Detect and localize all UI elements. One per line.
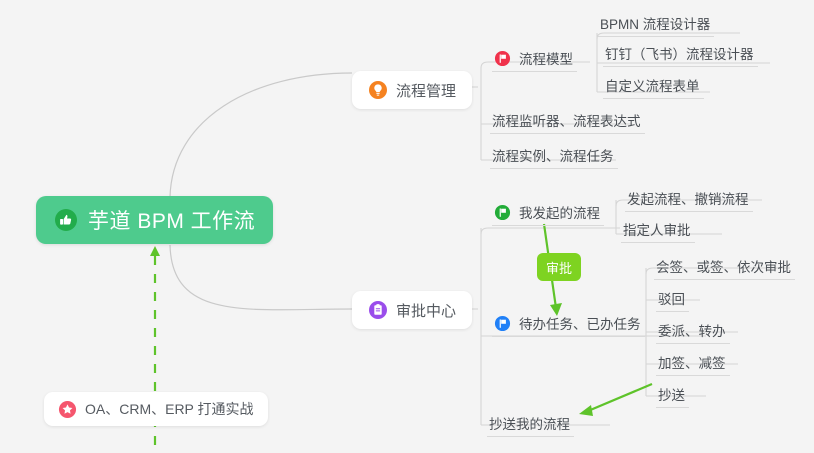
node-underline — [654, 279, 795, 280]
node-underline — [603, 98, 704, 99]
node-label-process-listener: 流程监听器、流程表达式 — [492, 110, 641, 130]
node-label-dingtalk-designer: 钉钉（飞书）流程设计器 — [605, 43, 754, 63]
floating-note-label: OA、CRM、ERP 打通实战 — [85, 399, 254, 419]
node-label-my-initiated-processes: 我发起的流程 — [519, 202, 600, 222]
node-underline — [603, 66, 758, 67]
node-underline — [656, 343, 730, 344]
node-process-listener[interactable]: 流程监听器、流程表达式 — [490, 107, 645, 133]
node-underline — [656, 375, 730, 376]
node-countersign[interactable]: 会签、或签、依次审批 — [654, 253, 795, 279]
node-process-instance[interactable]: 流程实例、流程任务 — [490, 142, 618, 168]
annotation-arrow-cc — [579, 384, 652, 416]
node-label-process-model: 流程模型 — [519, 48, 573, 68]
node-bpmn-designer[interactable]: BPMN 流程设计器 — [598, 10, 714, 36]
node-underline — [598, 36, 714, 37]
node-dingtalk-designer[interactable]: 钉钉（飞书）流程设计器 — [603, 40, 758, 66]
thumbs-up-icon — [54, 208, 78, 232]
node-cc[interactable]: 抄送 — [656, 381, 689, 407]
node-label-start-cancel-process: 发起流程、撤销流程 — [627, 188, 749, 208]
node-label-reject: 驳回 — [658, 288, 685, 308]
link-ac-child-1 — [481, 228, 620, 234]
node-process-model[interactable]: 流程模型 — [492, 45, 577, 71]
branch-label-process-management: 流程管理 — [396, 80, 456, 101]
node-label-assignee-approval: 指定人审批 — [623, 219, 691, 239]
node-label-bpmn-designer: BPMN 流程设计器 — [600, 13, 710, 33]
link-root-to-approval-center — [170, 245, 352, 310]
node-underline — [487, 436, 574, 437]
node-delegate-transfer[interactable]: 委派、转办 — [656, 317, 730, 343]
root-node[interactable]: 芋道 BPM 工作流 — [36, 196, 273, 244]
node-underline — [492, 336, 645, 337]
node-label-cc-to-me-processes: 抄送我的流程 — [489, 413, 570, 433]
node-label-cc: 抄送 — [658, 384, 685, 404]
node-underline — [492, 71, 577, 72]
flag-icon — [494, 204, 511, 221]
node-label-delegate-transfer: 委派、转办 — [658, 320, 726, 340]
flag-icon — [494, 50, 511, 67]
floating-note-node[interactable]: OA、CRM、ERP 打通实战 — [44, 392, 268, 426]
node-label-add-remove-sign: 加签、减签 — [658, 352, 726, 372]
node-underline — [656, 311, 689, 312]
node-underline — [492, 225, 604, 226]
root-label: 芋道 BPM 工作流 — [88, 205, 255, 235]
node-underline — [490, 168, 618, 169]
star-icon — [58, 400, 77, 419]
node-todo-done-tasks[interactable]: 待办任务、已办任务 — [492, 310, 645, 336]
node-cc-to-me-processes[interactable]: 抄送我的流程 — [487, 410, 574, 436]
branch-node-process-management[interactable]: 流程管理 — [352, 71, 472, 109]
flag-icon — [494, 315, 511, 332]
node-label-todo-done-tasks: 待办任务、已办任务 — [519, 313, 641, 333]
node-custom-form[interactable]: 自定义流程表单 — [603, 72, 704, 98]
mindmap-canvas: 芋道 BPM 工作流 OA、CRM、ERP 打通实战 流程管理 — [0, 0, 814, 453]
node-underline — [625, 211, 753, 212]
node-underline — [656, 407, 689, 408]
approval-annotation-badge: 审批 — [537, 253, 581, 281]
node-assignee-approval[interactable]: 指定人审批 — [621, 216, 695, 242]
node-label-process-instance: 流程实例、流程任务 — [492, 145, 614, 165]
node-add-remove-sign[interactable]: 加签、减签 — [656, 349, 730, 375]
node-label-custom-form: 自定义流程表单 — [605, 75, 700, 95]
node-label-countersign: 会签、或签、依次审批 — [656, 256, 791, 276]
approval-annotation-label: 审批 — [546, 258, 572, 277]
branch-label-approval-center: 审批中心 — [396, 300, 456, 321]
node-my-initiated-processes[interactable]: 我发起的流程 — [492, 199, 604, 225]
lightbulb-icon — [368, 80, 388, 100]
node-start-cancel-process[interactable]: 发起流程、撤销流程 — [625, 185, 753, 211]
node-underline — [490, 133, 645, 134]
node-underline — [621, 242, 695, 243]
link-root-to-process-management — [170, 73, 352, 197]
clipboard-icon — [368, 300, 388, 320]
branch-node-approval-center[interactable]: 审批中心 — [352, 291, 472, 329]
node-reject[interactable]: 驳回 — [656, 285, 689, 311]
